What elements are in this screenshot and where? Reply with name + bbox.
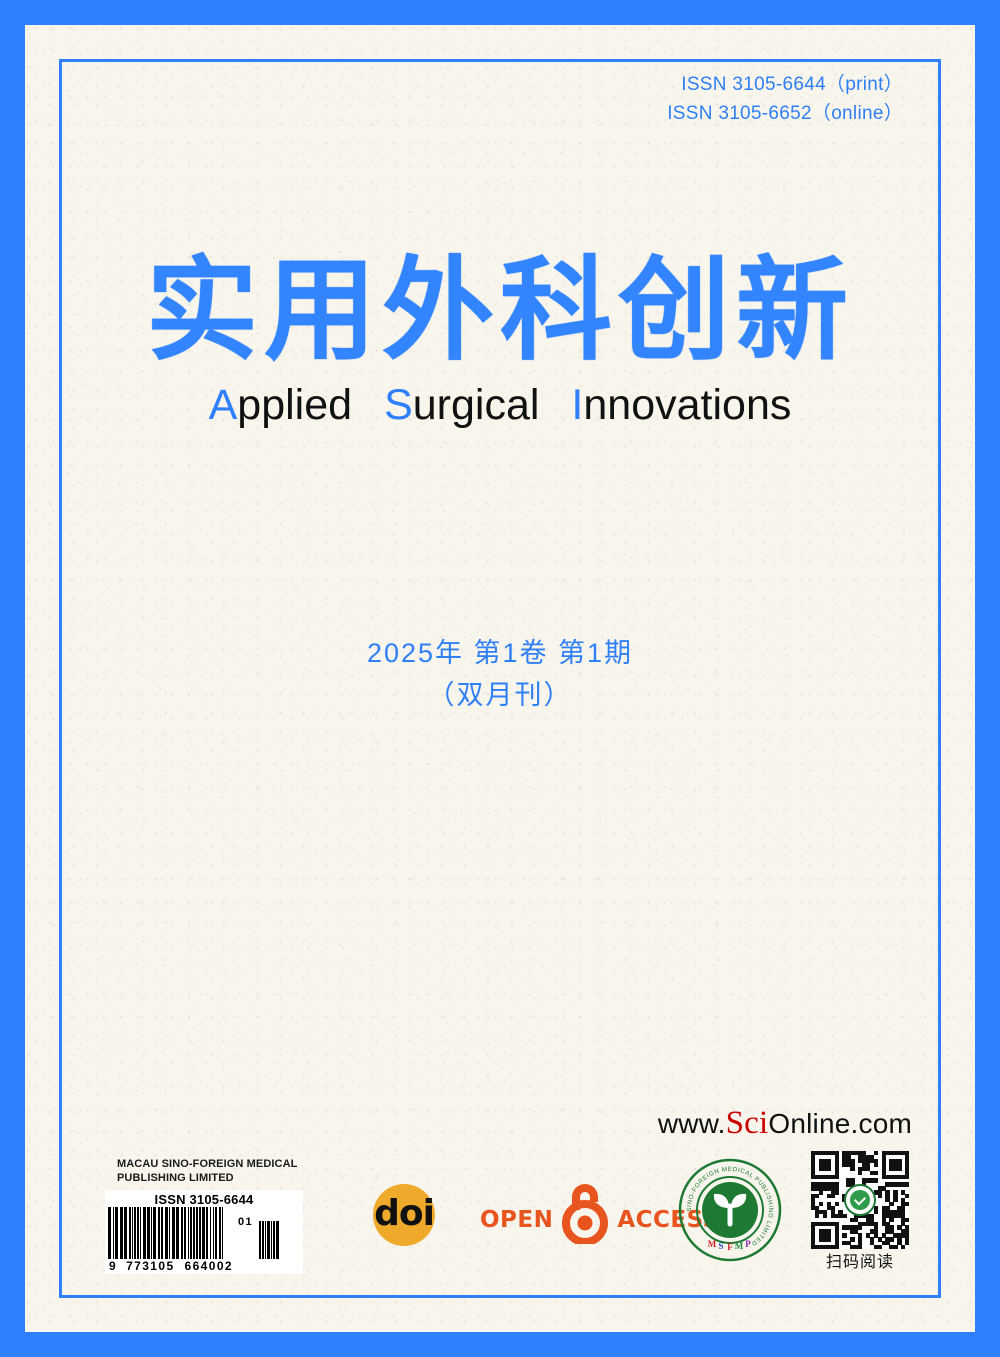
barcode-issn-label: ISSN 3105-6644 bbox=[108, 1192, 300, 1207]
title-rest-surgical: urgical bbox=[413, 381, 540, 429]
title-word-surgical: Surgical bbox=[384, 381, 539, 429]
publisher-seal-logo: MACAU SINO-FOREIGN MEDICAL PUBLISHING LI… bbox=[678, 1158, 782, 1262]
website-prefix: www. bbox=[658, 1108, 726, 1139]
publication-frequency: （双月刊） bbox=[25, 673, 975, 717]
journal-title-english: AppliedSurgicalInnovations bbox=[25, 381, 975, 430]
volume-issue-line: 2025年 第1卷 第1期 bbox=[25, 633, 975, 673]
website-url[interactable]: www.SciOnline.com bbox=[658, 1105, 912, 1142]
publisher-name-line1: MACAU SINO-FOREIGN MEDICAL bbox=[117, 1157, 315, 1171]
publisher-name: MACAU SINO-FOREIGN MEDICAL PUBLISHING LI… bbox=[117, 1157, 315, 1185]
seal-initial-s: S bbox=[718, 1241, 723, 1251]
title-initial-a: A bbox=[209, 381, 238, 429]
barcode-digits-right: 664002 bbox=[185, 1259, 233, 1273]
website-suffix: Online.com bbox=[768, 1108, 912, 1139]
journal-title-chinese: 实用外科创新 bbox=[25, 247, 975, 375]
open-access-left-label: OPEN bbox=[480, 1209, 553, 1232]
barcode-main-bars bbox=[108, 1207, 250, 1259]
barcode-addon-bars bbox=[259, 1221, 293, 1259]
issn-online: ISSN 3105-6652（online） bbox=[667, 99, 903, 128]
title-word-applied: Applied bbox=[209, 381, 352, 429]
qr-code-caption: 扫码阅读 bbox=[808, 1254, 912, 1272]
issn-print: ISSN 3105-6644（print） bbox=[667, 70, 903, 99]
publisher-block: MACAU SINO-FOREIGN MEDICAL PUBLISHING LI… bbox=[105, 1157, 315, 1274]
title-rest-applied: pplied bbox=[237, 381, 352, 429]
qr-code-image[interactable] bbox=[811, 1151, 909, 1249]
issn-block: ISSN 3105-6644（print） ISSN 3105-6652（onl… bbox=[667, 70, 903, 128]
title-rest-innovations: nnovations bbox=[583, 381, 791, 429]
doi-label: doi bbox=[374, 1196, 434, 1232]
barcode-digit-first: 9 bbox=[109, 1259, 117, 1273]
seal-initial-m1: M bbox=[708, 1239, 717, 1249]
title-initial-s: S bbox=[384, 381, 413, 429]
barcode-digits-left: 773105 bbox=[126, 1259, 174, 1273]
cover-footer: MACAU SINO-FOREIGN MEDICAL PUBLISHING LI… bbox=[85, 1120, 920, 1290]
title-initial-i: I bbox=[571, 381, 583, 429]
barcode-addon-label: 01 bbox=[238, 1215, 253, 1229]
cover-paper: ISSN 3105-6644（print） ISSN 3105-6652（onl… bbox=[25, 25, 975, 1332]
journal-cover: ISSN 3105-6644（print） ISSN 3105-6652（onl… bbox=[0, 0, 1000, 1357]
publisher-name-line2: PUBLISHING LIMITED bbox=[117, 1171, 315, 1185]
seal-initial-f: F bbox=[727, 1242, 733, 1252]
open-lock-icon bbox=[559, 1180, 611, 1249]
doi-logo[interactable]: doi bbox=[373, 1184, 435, 1246]
barcode-digits: 9773105664002 01 bbox=[108, 1259, 259, 1273]
volume-issue-block: 2025年 第1卷 第1期 （双月刊） bbox=[25, 633, 975, 717]
qr-code-block[interactable]: 扫码阅读 bbox=[808, 1151, 912, 1272]
seal-initial-m2: M bbox=[735, 1241, 744, 1251]
barcode: ISSN 3105-6644 9773105664002 01 bbox=[105, 1190, 303, 1274]
title-word-innovations: Innovations bbox=[571, 381, 791, 429]
barcode-bars bbox=[108, 1207, 300, 1259]
website-brand: Sci bbox=[726, 1105, 769, 1141]
seal-initial-p: P bbox=[745, 1239, 751, 1249]
